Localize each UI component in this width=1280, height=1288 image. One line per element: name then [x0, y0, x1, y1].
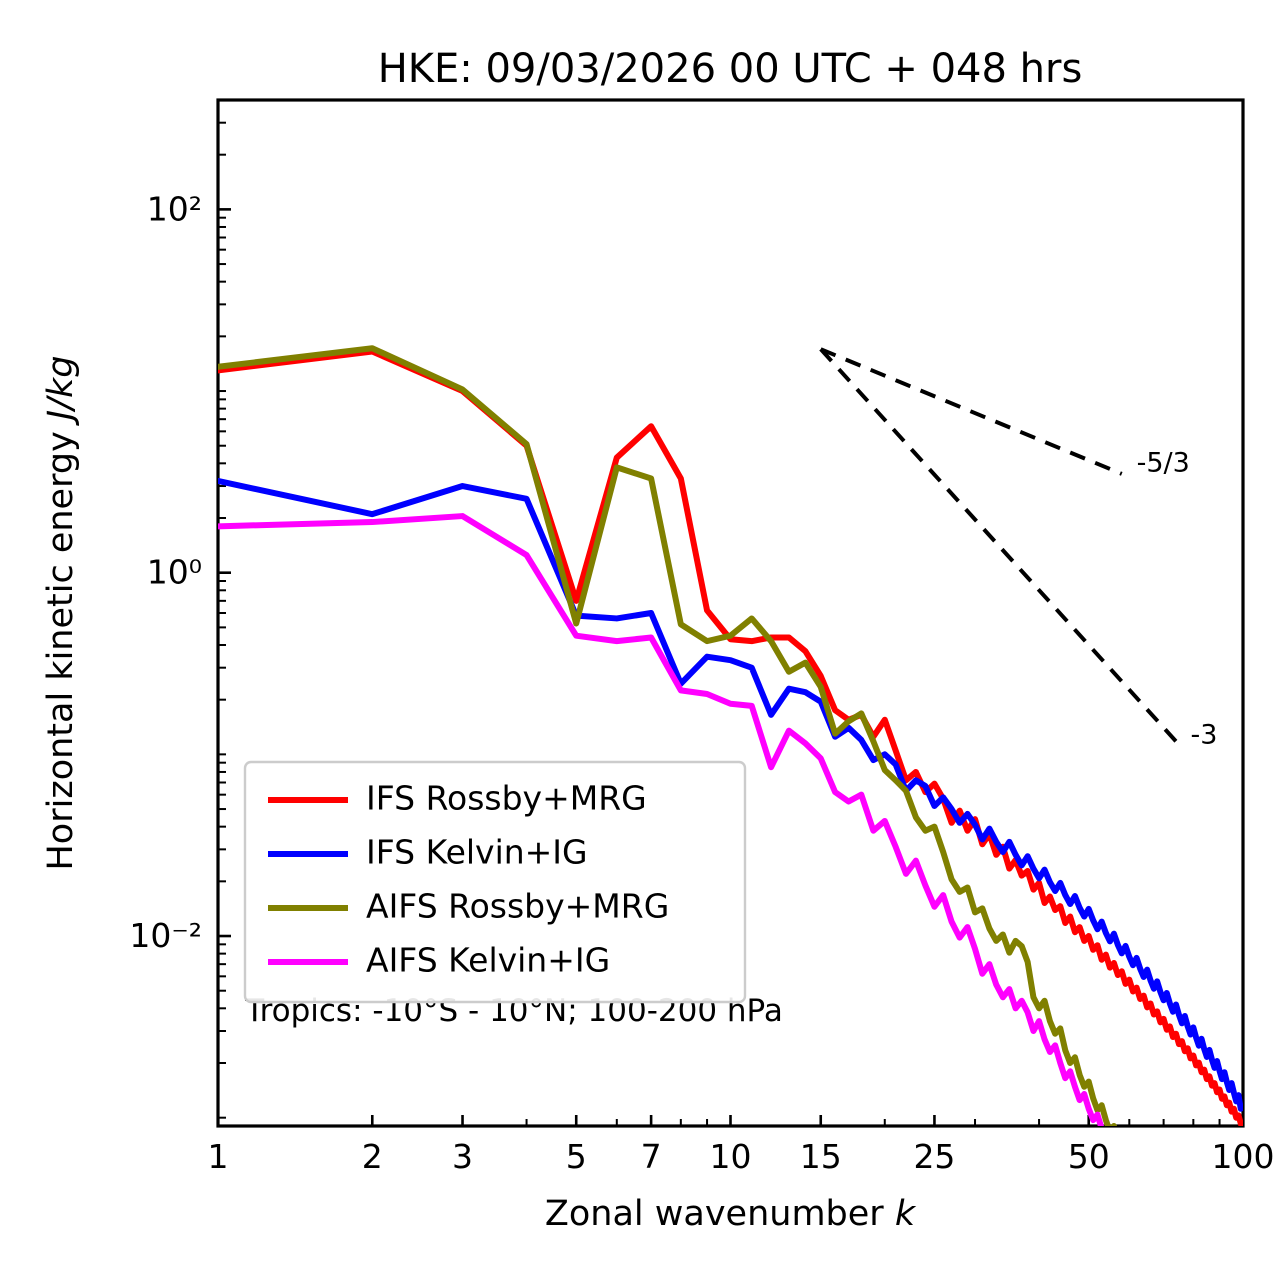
- legend[interactable]: IFS Rossby+MRGIFS Kelvin+IGAIFS Rossby+M…: [245, 762, 745, 1002]
- legend-label-aifs-kelvin-ig: AIFS Kelvin+IG: [366, 941, 610, 980]
- slope-label-5-3: -5/3: [1137, 448, 1190, 479]
- figure-canvas: HKE: 09/03/2026 00 UTC + 048 hrs Horizon…: [0, 0, 1280, 1288]
- x-tick-label-7: 7: [641, 1137, 662, 1176]
- x-tick-label-2: 2: [362, 1137, 383, 1176]
- x-tick-label-15: 15: [800, 1137, 842, 1176]
- slope-label-3: -3: [1191, 719, 1218, 750]
- legend-label-ifs-kelvin-ig: IFS Kelvin+IG: [366, 833, 588, 872]
- x-tick-label-10: 10: [710, 1137, 752, 1176]
- hke-spectrum-chart: HKE: 09/03/2026 00 UTC + 048 hrs Horizon…: [0, 0, 1280, 1288]
- y-axis-label-text: Horizontal kinetic energy: [41, 420, 81, 870]
- y-tick-label: 10²: [147, 189, 202, 228]
- y-axis-ticks: 10²10⁰10⁻²: [129, 100, 231, 1126]
- x-tick-label-1: 1: [208, 1137, 229, 1176]
- x-tick-label-5: 5: [566, 1137, 587, 1176]
- legend-label-ifs-rossby-mrg: IFS Rossby+MRG: [366, 779, 647, 818]
- x-tick-label-100: 100: [1212, 1137, 1275, 1176]
- reference-slope-lines: [821, 349, 1176, 741]
- slope-reference-line--5-3: [821, 349, 1122, 474]
- y-axis-label-units: J/kg: [41, 355, 81, 426]
- page-title: HKE: 09/03/2026 00 UTC + 048 hrs: [378, 46, 1083, 92]
- y-tick-label: 10⁰: [147, 553, 202, 592]
- x-axis-label-text: Zonal wavenumber: [545, 1194, 895, 1234]
- y-tick-label: 10⁻²: [129, 916, 202, 955]
- x-tick-label-25: 25: [913, 1137, 955, 1176]
- y-axis-label: Horizontal kinetic energy J/kg: [41, 355, 81, 870]
- x-axis-label-symbol: k: [895, 1194, 917, 1234]
- x-tick-label-50: 50: [1068, 1137, 1110, 1176]
- x-axis-label: Zonal wavenumber k: [545, 1194, 917, 1234]
- slope-reference-line--3: [821, 349, 1176, 741]
- x-tick-label-3: 3: [452, 1137, 473, 1176]
- svg-text:Horizontal kinetic energy J/kg: Horizontal kinetic energy J/kg: [41, 355, 81, 870]
- legend-label-aifs-rossby-mrg: AIFS Rossby+MRG: [366, 887, 669, 926]
